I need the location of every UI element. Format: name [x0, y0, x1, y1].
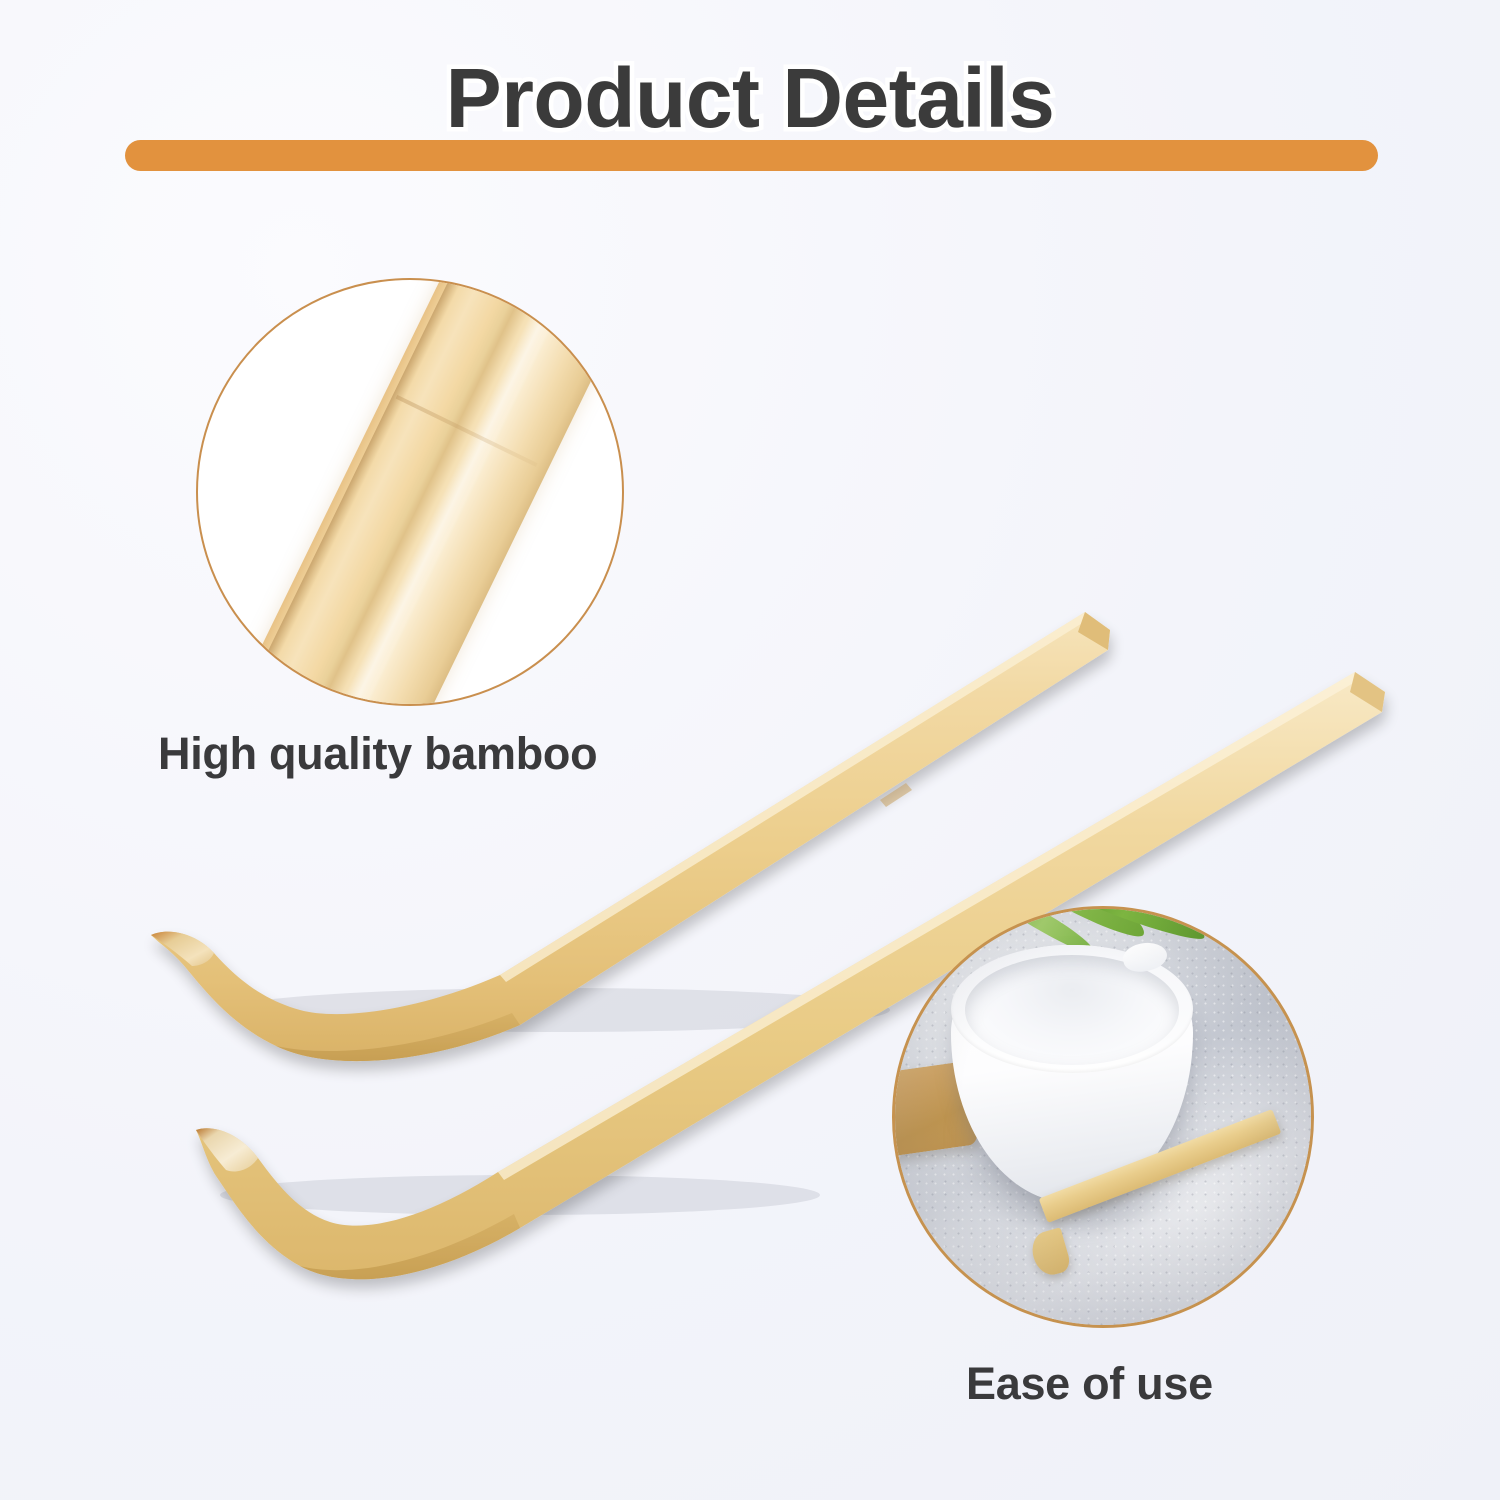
caption-ease-of-use: Ease of use	[966, 1358, 1213, 1410]
caption-high-quality-bamboo: High quality bamboo	[158, 728, 597, 780]
bamboo-macro-circle-image	[196, 278, 624, 706]
photo-vignette	[895, 909, 1311, 1325]
bamboo-edge-shadow	[196, 278, 532, 706]
ease-of-use-circle-image	[892, 906, 1314, 1328]
bamboo-stick-macro	[196, 278, 624, 706]
bamboo-gloss-highlight	[267, 278, 624, 706]
page-title: Product Details	[0, 56, 1500, 140]
scoop-ground-shadows	[220, 988, 890, 1215]
product-details-page: Product Details High quality bamboo	[0, 0, 1500, 1500]
page-header: Product Details	[0, 0, 1500, 230]
bamboo-node-mark	[880, 783, 912, 807]
